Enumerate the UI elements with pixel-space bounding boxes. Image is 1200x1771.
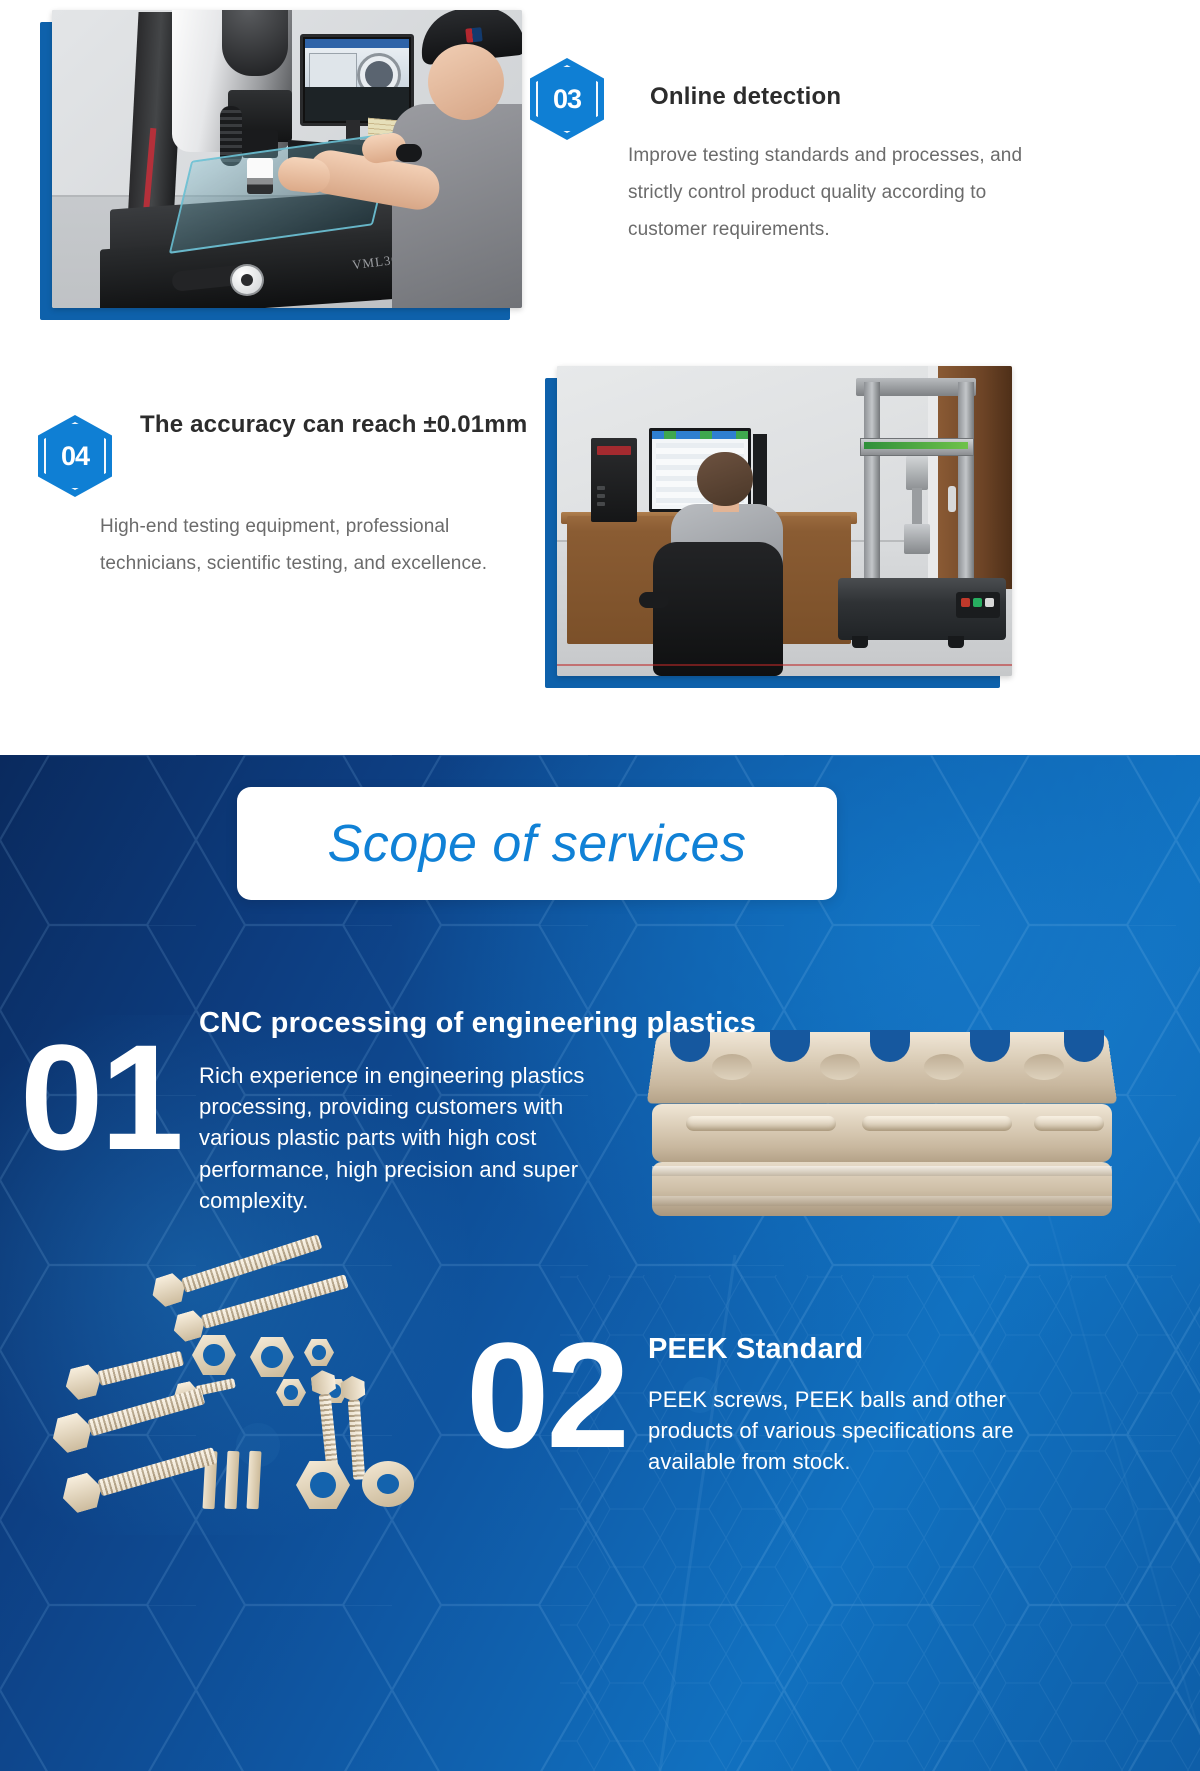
feature-body-04: High-end testing equipment, professional… [100, 508, 540, 582]
service-number-01: 01 [20, 1022, 181, 1172]
features-section: VML300 03 Online detection Improve testi… [0, 0, 1200, 855]
image-peek-screws-and-nuts [40, 1275, 460, 1575]
photo-image [557, 366, 1012, 676]
brochure-page: VML300 03 Online detection Improve testi… [0, 0, 1200, 1771]
badge-number: 03 [530, 58, 604, 140]
hexagon-badge-04: 04 [38, 415, 112, 497]
scope-title: Scope of services [328, 814, 747, 874]
service-body-02: PEEK screws, PEEK balls and other produc… [648, 1384, 1068, 1478]
badge-number: 04 [38, 415, 112, 497]
photo-online-detection: VML300 [40, 22, 510, 320]
scope-title-card: Scope of services [237, 787, 837, 900]
vml300-measuring-machine-illustration: VML300 [52, 10, 522, 308]
feature-title-04: The accuracy can reach ±0.01mm [140, 408, 540, 441]
photo-testing-equipment [545, 378, 1000, 688]
service-number-02: 02 [466, 1320, 627, 1470]
hexagon-badge-03: 03 [530, 58, 604, 140]
service-body-01: Rich experience in engineering plastics … [199, 1060, 629, 1216]
feature-body-03: Improve testing standards and processes,… [628, 137, 1028, 248]
feature-title-03: Online detection [650, 80, 1070, 113]
photo-image: VML300 [52, 10, 522, 308]
service-title-01: CNC processing of engineering plastics [199, 1007, 959, 1040]
service-title-02: PEEK Standard [648, 1333, 1068, 1366]
image-peek-chain-plate [652, 1020, 1112, 1255]
hexagon-pattern-background [0, 755, 1200, 1771]
tensile-testing-lab-illustration [557, 366, 1012, 676]
scope-of-services-section [0, 755, 1200, 1771]
